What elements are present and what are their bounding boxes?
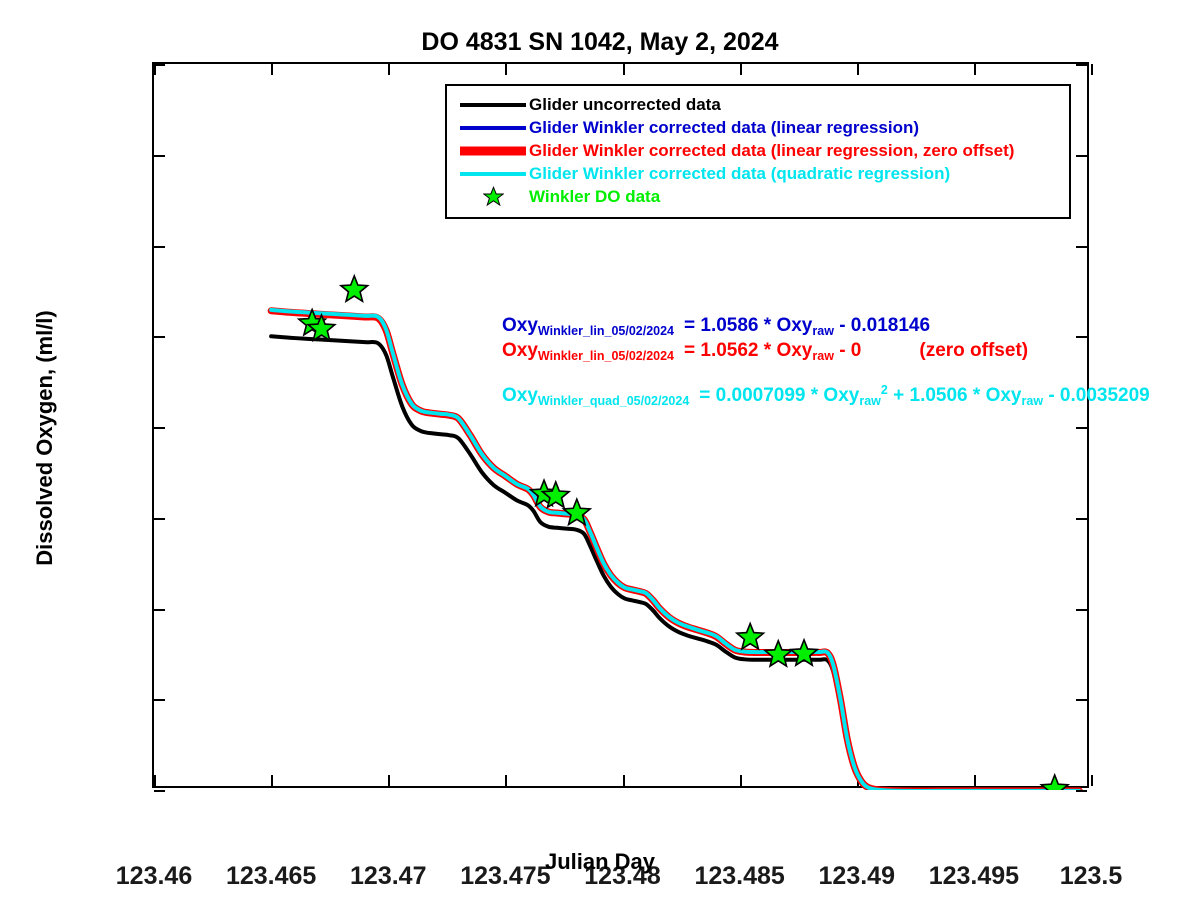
plot-area: 1614121086420 123.46123.465123.47123.475… [152, 62, 1089, 788]
legend-key-line-cyan [457, 162, 529, 185]
eq-quad-lhs: Oxy [502, 385, 538, 406]
eq-zero-note: (zero offset) [919, 340, 1028, 361]
eq-zero-rhs-sub: raw [812, 349, 834, 363]
legend-item-winkler: Winkler DO data [457, 185, 1059, 208]
chart-root: DO 4831 SN 1042, May 2, 2024 16141210864… [0, 0, 1200, 900]
legend-key-star-icon [457, 185, 529, 208]
legend-item-quadratic: Glider Winkler corrected data (quadratic… [457, 162, 1059, 185]
winkler-star-marker [341, 276, 368, 301]
legend-label-winkler: Winkler DO data [529, 188, 660, 205]
eq-quad-lhs-sub: Winkler_quad_05/02/2024 [538, 394, 689, 408]
eq-linear-lhs-sub: Winkler_lin_05/02/2024 [538, 324, 674, 338]
eq-linear-rhs: = 1.0586 * Oxy [684, 315, 812, 336]
eq-linear-rhs-tail: - 0.018146 [834, 315, 930, 336]
eq-quad-rhs-tail: - 0.0035209 [1043, 385, 1150, 406]
annotation-eq-quadratic: OxyWinkler_quad_05/02/2024= 0.0007099 * … [502, 386, 1150, 406]
legend: Glider uncorrected data Glider Winkler c… [445, 84, 1071, 219]
winkler-star-marker [564, 499, 591, 524]
winkler-star-marker [791, 640, 818, 665]
y-tick-mark-right [1076, 790, 1087, 792]
annotation-eq-linear-zero: OxyWinkler_lin_05/02/2024= 1.0562 * Oxyr… [502, 341, 1028, 361]
eq-quad-rhs-sub2: raw [1022, 394, 1044, 408]
eq-linear-rhs-sub: raw [812, 324, 834, 338]
legend-label-linear-zero-offset: Glider Winkler corrected data (linear re… [529, 142, 1014, 159]
legend-label-uncorrected: Glider uncorrected data [529, 96, 721, 113]
x-axis-title: Julian Day [0, 849, 1200, 875]
legend-label-quadratic: Glider Winkler corrected data (quadratic… [529, 165, 950, 182]
eq-zero-lhs-sub: Winkler_lin_05/02/2024 [538, 349, 674, 363]
legend-key-line-red [457, 139, 529, 162]
winkler-star-marker [1041, 775, 1068, 790]
eq-zero-lhs: Oxy [502, 340, 538, 361]
page-title: DO 4831 SN 1042, May 2, 2024 [0, 28, 1200, 57]
eq-zero-rhs-tail: - 0 [834, 340, 861, 361]
x-tick-mark [1091, 775, 1093, 786]
legend-key-line-blue [457, 116, 529, 139]
y-axis-title: Dissolved Oxygen, (ml/l) [32, 118, 58, 758]
annotation-eq-linear: OxyWinkler_lin_05/02/2024= 1.0586 * Oxyr… [502, 316, 930, 336]
eq-quad-rhs-sub: raw [859, 394, 881, 408]
eq-quad-rhs: = 0.0007099 * Oxy [699, 385, 859, 406]
eq-zero-rhs: = 1.0562 * Oxy [684, 340, 812, 361]
eq-quad-rhs-mid: + 1.0506 * Oxy [888, 385, 1022, 406]
legend-item-linear-zero-offset: Glider Winkler corrected data (linear re… [457, 139, 1059, 162]
legend-label-linear: Glider Winkler corrected data (linear re… [529, 119, 919, 136]
eq-linear-lhs: Oxy [502, 315, 538, 336]
legend-item-linear: Glider Winkler corrected data (linear re… [457, 116, 1059, 139]
legend-item-uncorrected: Glider uncorrected data [457, 93, 1059, 116]
winkler-star-marker [765, 641, 792, 666]
legend-key-line-black [457, 93, 529, 116]
y-tick-mark [154, 790, 165, 792]
eq-quad-rhs-sup: 2 [881, 383, 888, 397]
plot-canvas: 1614121086420 123.46123.465123.47123.475… [154, 64, 1087, 786]
x-tick-mark-top [1091, 64, 1093, 75]
winkler-star-marker [737, 624, 764, 649]
